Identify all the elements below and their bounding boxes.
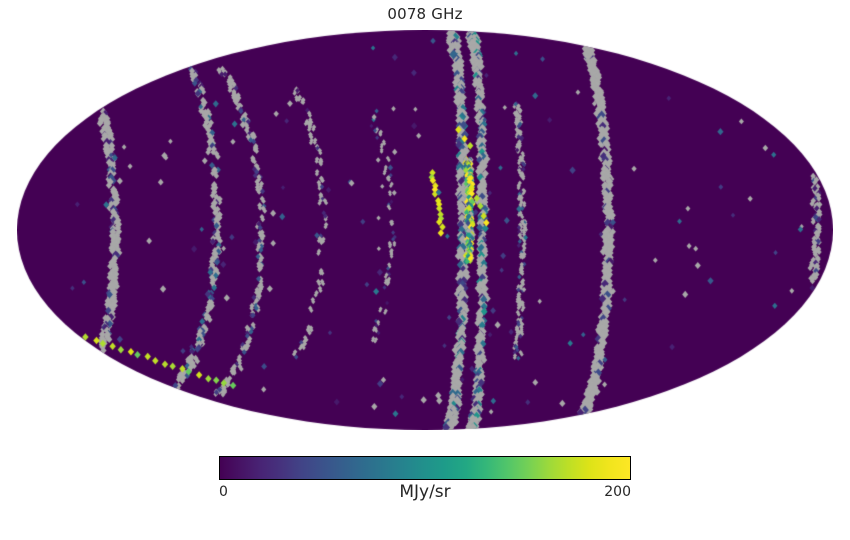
page-title: 0078 GHz (0, 5, 850, 23)
figure-canvas: 0078 GHz 0 200 MJy/sr (0, 0, 850, 540)
sky-map (17, 30, 833, 430)
colorbar-unit-label: MJy/sr (219, 482, 631, 502)
colorbar-gradient (219, 456, 631, 480)
mollweide-sky-canvas (17, 30, 833, 430)
colorbar (219, 456, 631, 480)
